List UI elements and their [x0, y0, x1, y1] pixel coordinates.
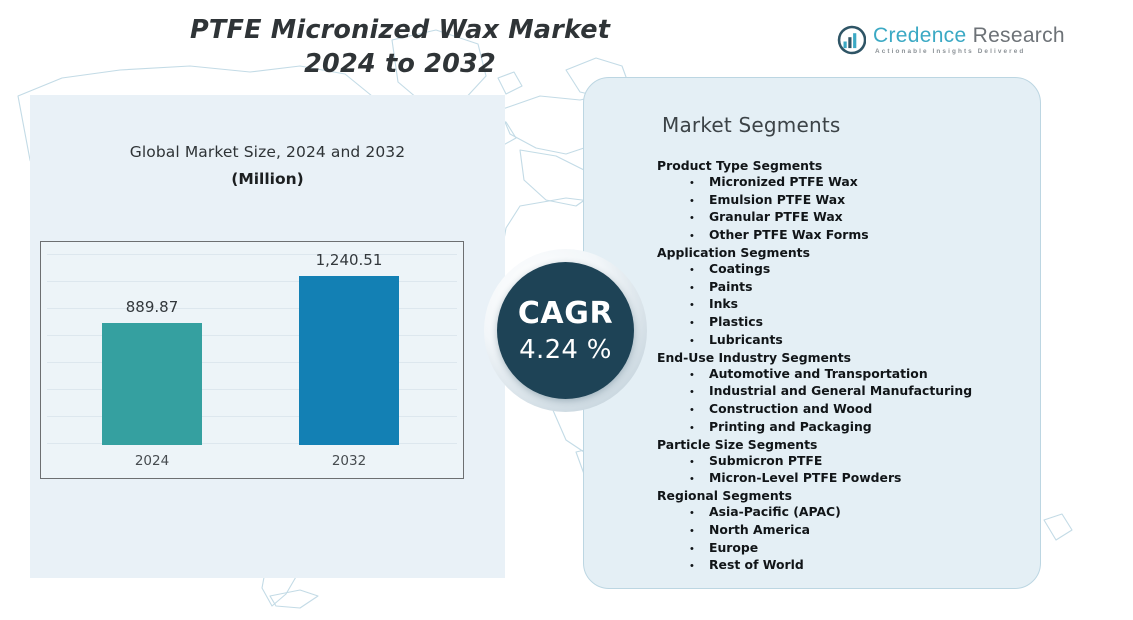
logo-tagline: Actionable Insights Delivered [875, 49, 1065, 55]
segment-item-label: Paints [709, 279, 752, 295]
bar-category-label-2024: 2024 [135, 453, 169, 469]
bullet-icon: • [657, 455, 709, 471]
segment-item-label: Industrial and General Manufacturing [709, 383, 972, 399]
segment-item-label: Submicron PTFE [709, 453, 822, 469]
segment-item-label: Micronized PTFE Wax [709, 174, 858, 190]
segment-list-item[interactable]: •Granular PTFE Wax [657, 209, 1028, 227]
bar-value-label-2024: 889.87 [126, 298, 179, 316]
segment-list-item[interactable]: •Automotive and Transportation [657, 366, 1028, 384]
segment-list-item[interactable]: •Lubricants [657, 332, 1028, 350]
bullet-icon: • [657, 385, 709, 401]
chart-title: Global Market Size, 2024 and 2032 [30, 143, 505, 161]
cagr-badge: CAGR 4.24 % [484, 249, 647, 412]
segment-item-label: Emulsion PTFE Wax [709, 192, 845, 208]
cagr-value: 4.24 % [519, 335, 612, 365]
market-size-chart-panel: Global Market Size, 2024 and 2032 (Milli… [30, 95, 505, 578]
segment-group: End-Use Industry Segments•Automotive and… [657, 350, 1028, 437]
segment-item-label: Other PTFE Wax Forms [709, 227, 869, 243]
segment-group-title: Product Type Segments [657, 158, 1028, 174]
logo-name-primary: Credence [873, 24, 966, 47]
bar-category-label-2032: 2032 [332, 453, 366, 469]
bullet-icon: • [657, 421, 709, 437]
segment-item-label: Automotive and Transportation [709, 366, 928, 382]
segment-item-label: Plastics [709, 314, 763, 330]
segment-list-item[interactable]: •Plastics [657, 314, 1028, 332]
segment-group-title: End-Use Industry Segments [657, 350, 1028, 366]
bullet-icon: • [657, 368, 709, 384]
segment-list-item[interactable]: •Emulsion PTFE Wax [657, 192, 1028, 210]
brand-logo[interactable]: Credence Research Actionable Insights De… [836, 25, 1065, 55]
segment-list-item[interactable]: •Paints [657, 279, 1028, 297]
bullet-icon: • [657, 316, 709, 332]
segment-group: Application Segments•Coatings•Paints•Ink… [657, 245, 1028, 350]
bar-2032[interactable]: 1,240.51 2032 [299, 276, 399, 445]
logo-wordmark: Credence Research Actionable Insights De… [873, 25, 1065, 55]
bullet-icon: • [657, 211, 709, 227]
cagr-circle: CAGR 4.24 % [497, 262, 634, 399]
segment-list-item[interactable]: •Micron-Level PTFE Powders [657, 470, 1028, 488]
bullet-icon: • [657, 194, 709, 210]
bullet-icon: • [657, 472, 709, 488]
segment-item-label: Rest of World [709, 557, 804, 573]
segment-item-label: Coatings [709, 261, 770, 277]
bullet-icon: • [657, 403, 709, 419]
segment-list-item[interactable]: •Submicron PTFE [657, 453, 1028, 471]
segment-list-item[interactable]: •Construction and Wood [657, 401, 1028, 419]
bullet-icon: • [657, 263, 709, 279]
bar-chart-plot-area: 889.87 2024 1,240.51 2032 [40, 241, 464, 479]
bullet-icon: • [657, 229, 709, 245]
bullet-icon: • [657, 298, 709, 314]
segment-item-label: Inks [709, 296, 738, 312]
infographic-canvas: PTFE Micronized Wax Market 2024 to 2032 … [0, 0, 1133, 620]
segment-item-label: Printing and Packaging [709, 419, 872, 435]
segments-list: Product Type Segments•Micronized PTFE Wa… [657, 158, 1028, 575]
segment-list-item[interactable]: •North America [657, 522, 1028, 540]
segment-list-item[interactable]: •Rest of World [657, 557, 1028, 575]
bullet-icon: • [657, 542, 709, 558]
segments-heading: Market Segments [662, 113, 841, 137]
page-title-line-2: 2024 to 2032 [190, 48, 610, 82]
segment-group-title: Application Segments [657, 245, 1028, 261]
segment-item-label: Lubricants [709, 332, 783, 348]
segment-group: Regional Segments•Asia-Pacific (APAC)•No… [657, 488, 1028, 575]
segment-group-title: Regional Segments [657, 488, 1028, 504]
bullet-icon: • [657, 176, 709, 192]
bar-chart-circle-icon [836, 25, 866, 55]
segment-group-title: Particle Size Segments [657, 437, 1028, 453]
segment-group: Particle Size Segments•Submicron PTFE•Mi… [657, 437, 1028, 488]
segment-item-label: Micron-Level PTFE Powders [709, 470, 901, 486]
segment-list-item[interactable]: •Printing and Packaging [657, 419, 1028, 437]
chart-bars: 889.87 2024 1,240.51 2032 [41, 242, 463, 478]
bullet-icon: • [657, 334, 709, 350]
segment-list-item[interactable]: •Industrial and General Manufacturing [657, 383, 1028, 401]
cagr-label: CAGR [518, 296, 613, 331]
segment-list-item[interactable]: •Coatings [657, 261, 1028, 279]
bar-2024[interactable]: 889.87 2024 [102, 323, 202, 445]
logo-name-secondary: Research [973, 24, 1065, 47]
segment-list-item[interactable]: •Micronized PTFE Wax [657, 174, 1028, 192]
market-segments-panel: Market Segments Product Type Segments•Mi… [583, 77, 1041, 589]
segment-item-label: North America [709, 522, 810, 538]
bar-value-label-2032: 1,240.51 [316, 251, 383, 269]
segment-item-label: Europe [709, 540, 758, 556]
bullet-icon: • [657, 524, 709, 540]
segment-list-item[interactable]: •Asia-Pacific (APAC) [657, 504, 1028, 522]
segment-list-item[interactable]: •Other PTFE Wax Forms [657, 227, 1028, 245]
bullet-icon: • [657, 281, 709, 297]
page-title-line-1: PTFE Micronized Wax Market [190, 14, 610, 48]
segment-item-label: Construction and Wood [709, 401, 872, 417]
bullet-icon: • [657, 559, 709, 575]
segment-list-item[interactable]: •Inks [657, 296, 1028, 314]
segment-group: Product Type Segments•Micronized PTFE Wa… [657, 158, 1028, 245]
segment-list-item[interactable]: •Europe [657, 540, 1028, 558]
bullet-icon: • [657, 506, 709, 522]
chart-heading-group: Global Market Size, 2024 and 2032 (Milli… [30, 143, 505, 188]
chart-subtitle: (Million) [30, 170, 505, 188]
segment-item-label: Granular PTFE Wax [709, 209, 843, 225]
segment-item-label: Asia-Pacific (APAC) [709, 504, 841, 520]
page-title: PTFE Micronized Wax Market 2024 to 2032 [190, 14, 610, 82]
